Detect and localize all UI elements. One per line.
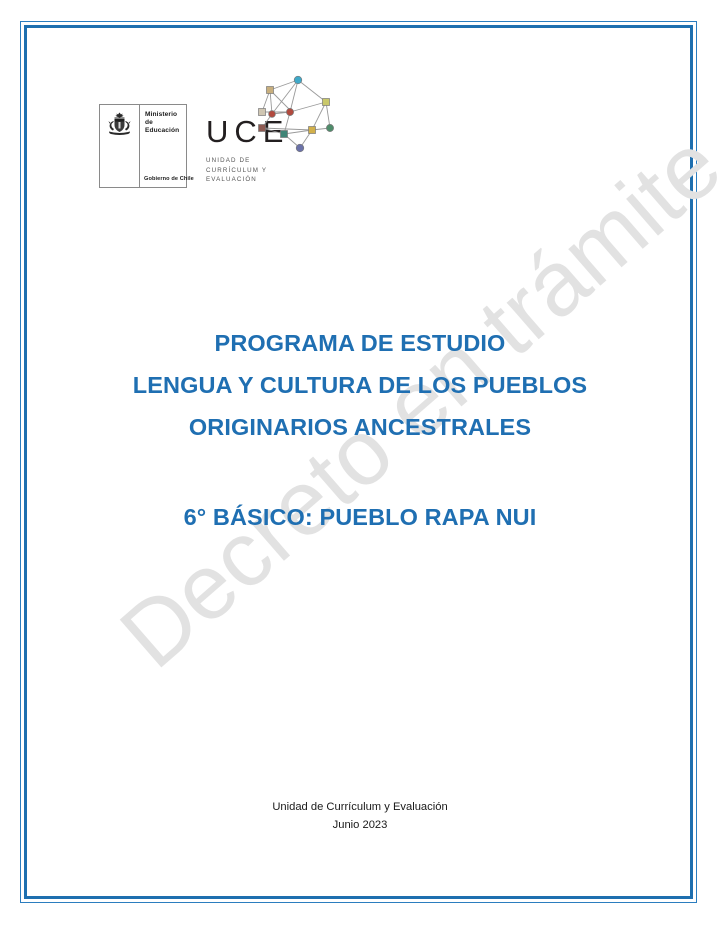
watermark-decreto-en-tramite: Decreto en trámite: [101, 216, 623, 689]
uce-sub-line-3: EVALUACIÓN: [206, 175, 289, 185]
document-title: PROGRAMA DE ESTUDIO LENGUA Y CULTURA DE …: [0, 322, 720, 448]
ministry-of-education-logo: Ministerio de Educación Gobierno de Chil…: [99, 104, 187, 188]
ministry-title-line-2: Educación: [145, 127, 186, 135]
coat-of-arms-cell: [100, 105, 140, 187]
ministry-title-line-1: Ministerio de: [145, 111, 186, 127]
uce-sub-line-2: CURRÍCULUM Y: [206, 166, 289, 176]
document-page: Decreto en trámite: [0, 0, 720, 932]
title-line-1: PROGRAMA DE ESTUDIO: [0, 322, 720, 364]
uce-subtitle: UNIDAD DE CURRÍCULUM Y EVALUACIÓN: [206, 156, 289, 185]
chile-coat-of-arms-icon: [106, 112, 133, 137]
footer-unit-name: Unidad de Currículum y Evaluación: [0, 799, 720, 817]
logo-band: Ministerio de Educación Gobierno de Chil…: [0, 0, 720, 220]
document-footer: Unidad de Currículum y Evaluación Junio …: [0, 799, 720, 834]
subtitle-line-1: 6° BÁSICO: PUEBLO RAPA NUI: [0, 500, 720, 534]
title-line-2: LENGUA Y CULTURA DE LOS PUEBLOS: [0, 364, 720, 406]
ministry-text-cell: Ministerio de Educación Gobierno de Chil…: [140, 105, 186, 187]
footer-date: Junio 2023: [0, 817, 720, 835]
ministry-government-label: Gobierno de Chile: [144, 176, 194, 182]
title-line-3: ORIGINARIOS ANCESTRALES: [0, 406, 720, 448]
network-nodes-graphic: [252, 72, 342, 159]
document-subtitle: 6° BÁSICO: PUEBLO RAPA NUI: [0, 500, 720, 534]
